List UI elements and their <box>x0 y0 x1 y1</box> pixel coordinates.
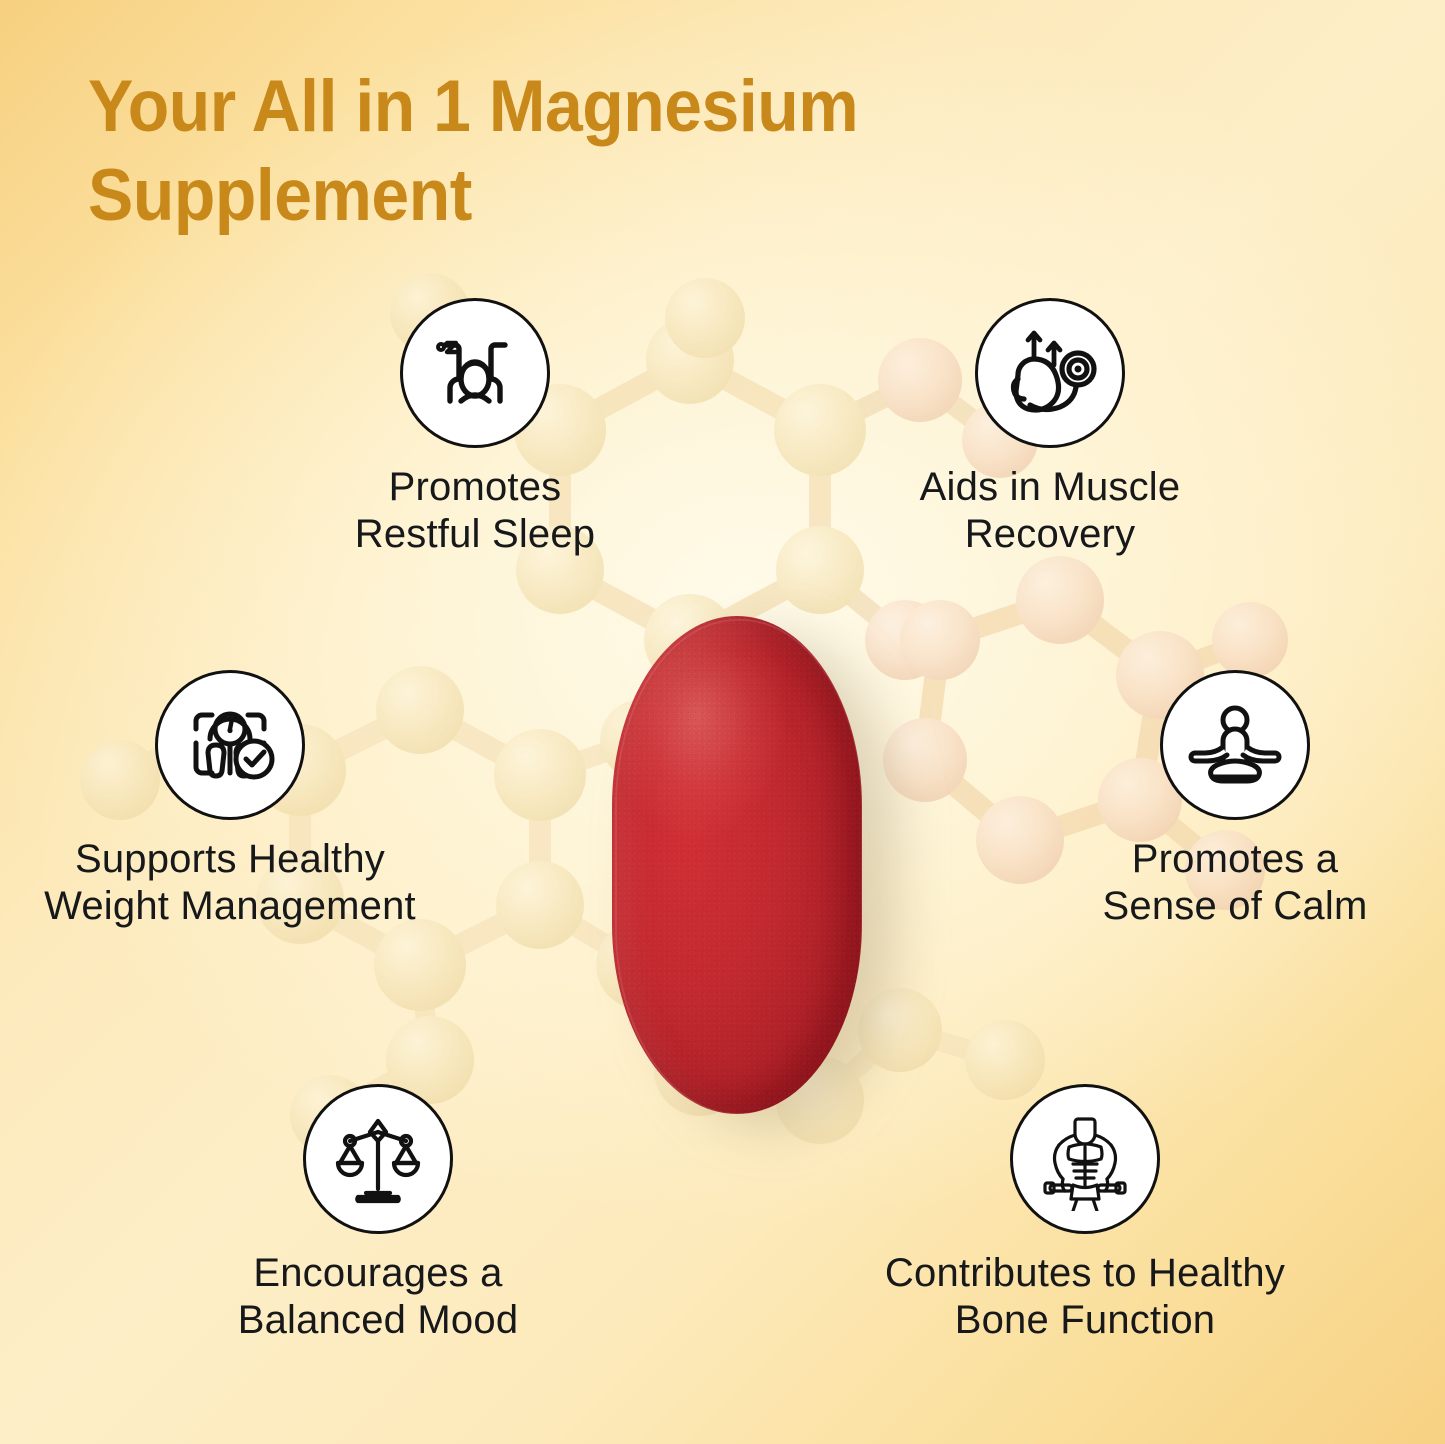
benefit-item-weight-management: Supports Healthy Weight Management <box>0 670 460 930</box>
benefit-item-sleep: Promotes Restful Sleep <box>245 298 705 558</box>
page-title: Your All in 1 Magnesium Supplement <box>88 62 1018 240</box>
tablet-body <box>612 616 862 1114</box>
benefit-item-balanced-mood: Encourages a Balanced Mood <box>148 1084 608 1344</box>
benefit-item-bone-function: Contributes to Healthy Bone Function <box>855 1084 1315 1344</box>
tablet-edge-rim <box>615 619 862 1114</box>
benefit-label-calm: Promotes a Sense of Calm <box>1103 836 1368 930</box>
benefit-label-bone-function: Contributes to Healthy Bone Function <box>885 1250 1285 1344</box>
product-infographic-poster: Your All in 1 Magnesium Supplement <box>0 0 1445 1444</box>
benefit-item-calm: Promotes a Sense of Calm <box>1005 670 1445 930</box>
benefit-label-weight-management: Supports Healthy Weight Management <box>44 836 416 930</box>
benefit-label-muscle-recovery: Aids in Muscle Recovery <box>920 464 1181 558</box>
benefit-label-sleep: Promotes Restful Sleep <box>355 464 596 558</box>
balance-scales-icon <box>303 1084 453 1234</box>
meditation-lotus-icon <box>1160 670 1310 820</box>
benefit-label-balanced-mood: Encourages a Balanced Mood <box>238 1250 519 1344</box>
magnesium-tablet-product-image <box>612 616 862 1116</box>
weightlifter-dumbbell-icon <box>1010 1084 1160 1234</box>
flexed-bicep-icon <box>975 298 1125 448</box>
sleeping-person-icon <box>400 298 550 448</box>
benefit-item-muscle-recovery: Aids in Muscle Recovery <box>820 298 1280 558</box>
weight-scale-icon <box>155 670 305 820</box>
